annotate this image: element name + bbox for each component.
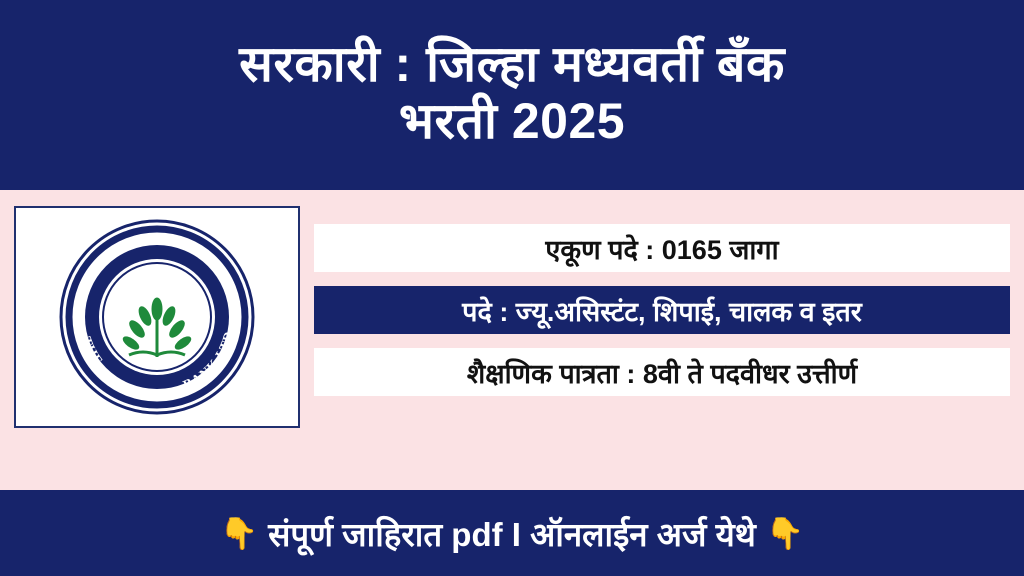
detail-qualification: शैक्षणिक पात्रता : 8वी ते पदवीधर उत्तीर्… (314, 348, 1010, 396)
footer-cta-text[interactable]: संपूर्ण जाहिरात pdf I ऑनलाईन अर्ज येथे (268, 511, 756, 556)
detail-post-names-text: पदे : ज्यू.असिस्टंट, शिपाई, चालक व इतर (462, 292, 862, 329)
detail-qualification-text: शैक्षणिक पात्रता : 8वी ते पदवीधर उत्तीर्… (467, 354, 857, 391)
details-list: एकूण पदे : 0165 जागा पदे : ज्यू.असिस्टंट… (314, 206, 1010, 396)
poster-footer[interactable]: 👇 संपूर्ण जाहिरात pdf I ऑनलाईन अर्ज येथे… (0, 490, 1024, 576)
bank-logo-container: THANE DISTRICT CENTRAL CO-OP THE BANK LT… (14, 206, 300, 428)
detail-total-posts-text: एकूण पदे : 0165 जागा (545, 230, 778, 267)
pointing-down-hand-icon-right: 👇 (766, 518, 805, 549)
poster-body: THANE DISTRICT CENTRAL CO-OP THE BANK LT… (0, 190, 1024, 490)
poster-header: सरकारी : जिल्हा मध्यवर्ती बँक भरती 2025 (0, 0, 1024, 190)
header-title-line-1: सरकारी : जिल्हा मध्यवर्ती बँक (239, 36, 785, 94)
pointing-down-hand-icon-left: 👇 (219, 518, 258, 549)
detail-post-names: पदे : ज्यू.असिस्टंट, शिपाई, चालक व इतर (314, 286, 1010, 334)
recruitment-poster: सरकारी : जिल्हा मध्यवर्ती बँक भरती 2025 … (0, 0, 1024, 576)
bank-logo-icon: THANE DISTRICT CENTRAL CO-OP THE BANK LT… (57, 217, 257, 417)
detail-total-posts: एकूण पदे : 0165 जागा (314, 224, 1010, 272)
header-title-line-2: भरती 2025 (399, 93, 625, 151)
